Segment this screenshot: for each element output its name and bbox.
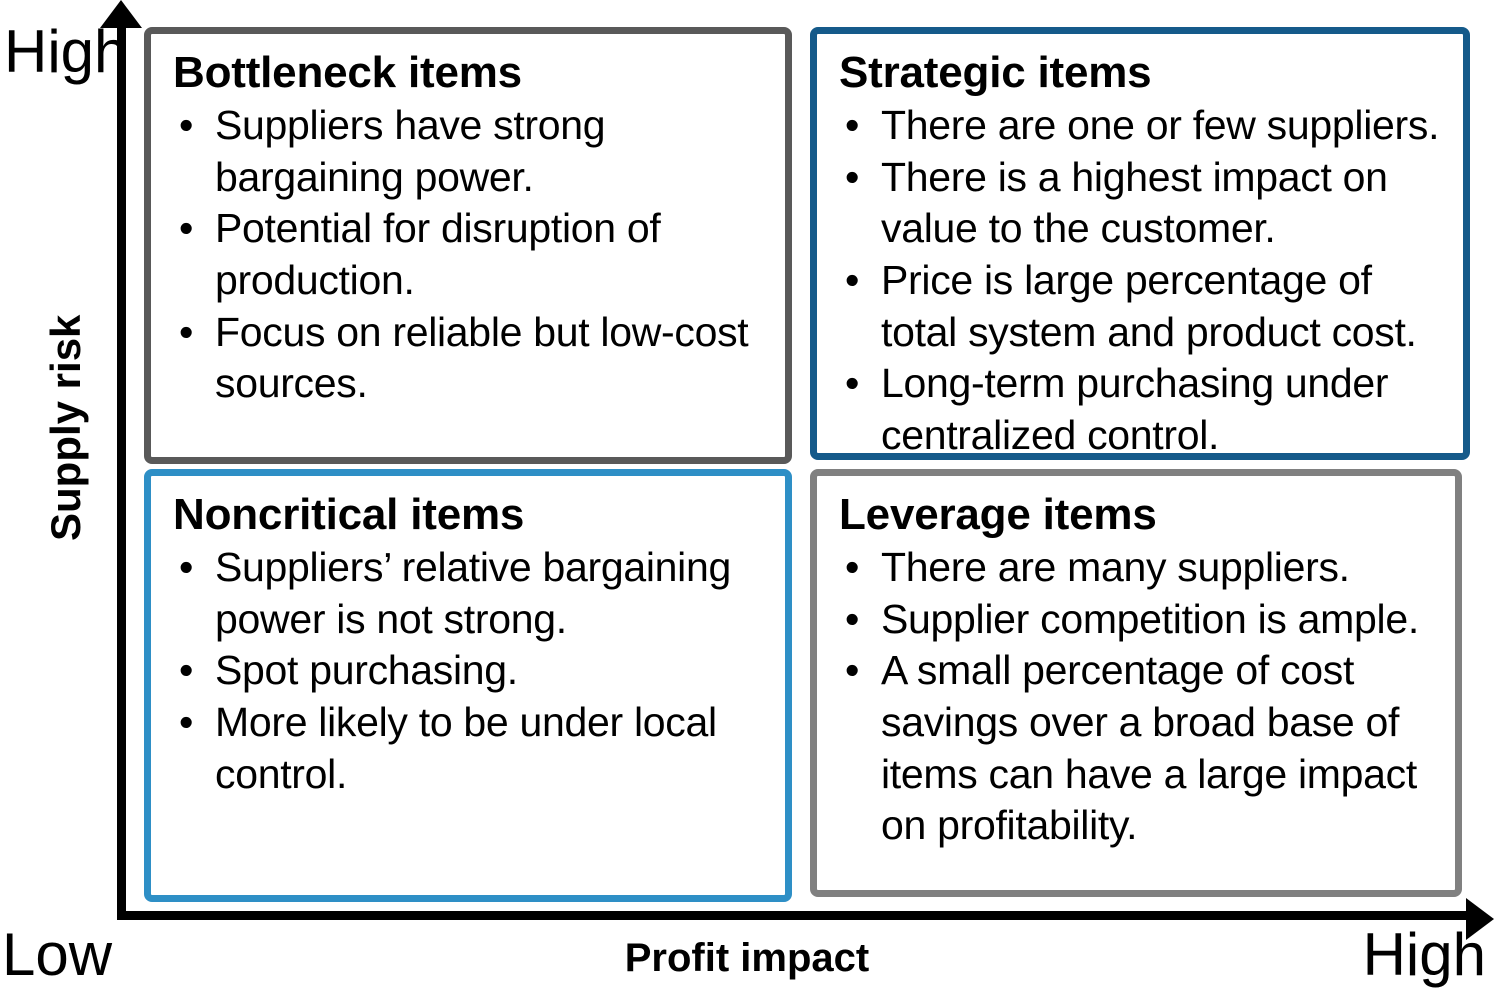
bullet-icon: •: [179, 203, 193, 255]
quadrant-bullet-text: There are one or few suppliers.: [881, 102, 1439, 148]
quadrant-title-strategic: Strategic items: [839, 48, 1447, 98]
quadrant-bullet-text: Long-term purchasing under centralized c…: [881, 360, 1388, 458]
quadrant-bullet-item: •A small percentage of cost savings over…: [837, 645, 1439, 852]
quadrant-bullet-item: •Long-term purchasing under centralized …: [837, 358, 1447, 461]
quadrant-bullets-noncritical: •Suppliers’ relative bargaining power is…: [171, 542, 769, 800]
quadrant-strategic-items: Strategic items •There are one or few su…: [810, 27, 1470, 460]
bullet-icon: •: [845, 255, 859, 307]
quadrant-bullet-text: Suppliers have strong bargaining power.: [215, 102, 605, 200]
y-axis-title: Supply risk: [45, 341, 87, 541]
quadrant-bullets-strategic: •There are one or few suppliers.•There i…: [837, 100, 1447, 462]
bullet-icon: •: [845, 542, 859, 594]
quadrant-bullet-item: •Spot purchasing.: [171, 645, 769, 697]
quadrant-bullet-text: Potential for disruption of production.: [215, 205, 660, 303]
quadrant-bottleneck-items: Bottleneck items •Suppliers have strong …: [144, 27, 792, 464]
quadrant-bullet-item: •Price is large percentage of total syst…: [837, 255, 1447, 358]
quadrant-bullet-text: Price is large percentage of total syste…: [881, 257, 1417, 355]
y-axis-line: [117, 22, 126, 920]
quadrant-bullet-item: •Suppliers have strong bargaining power.: [171, 100, 769, 203]
bullet-icon: •: [179, 645, 193, 697]
bullet-icon: •: [179, 542, 193, 594]
bullet-icon: •: [845, 358, 859, 410]
quadrant-bullet-text: A small percentage of cost savings over …: [881, 647, 1417, 848]
quadrant-title-leverage: Leverage items: [839, 490, 1439, 540]
quadrant-noncritical-items: Noncritical items •Suppliers’ relative b…: [144, 469, 792, 902]
kraljic-matrix-diagram: High Supply risk Low High Profit impact …: [0, 0, 1494, 1006]
quadrant-bullet-item: •There are many suppliers.: [837, 542, 1439, 594]
quadrant-leverage-items: Leverage items •There are many suppliers…: [810, 469, 1462, 897]
quadrant-bullet-text: Spot purchasing.: [215, 647, 518, 693]
bullet-icon: •: [179, 697, 193, 749]
x-axis-line: [117, 911, 1475, 920]
quadrant-bullet-item: •There are one or few suppliers.: [837, 100, 1447, 152]
bullet-icon: •: [845, 100, 859, 152]
quadrant-bullets-leverage: •There are many suppliers.•Supplier comp…: [837, 542, 1439, 852]
quadrant-bullet-item: •Focus on reliable but low-cost sources.: [171, 307, 769, 410]
y-axis-high-label: High: [4, 22, 127, 82]
quadrant-bullet-text: Suppliers’ relative bargaining power is …: [215, 544, 731, 642]
quadrant-bullet-text: More likely to be under local control.: [215, 699, 717, 797]
bullet-icon: •: [845, 645, 859, 697]
quadrant-bullet-text: There is a highest impact on value to th…: [881, 154, 1388, 252]
bullet-icon: •: [179, 307, 193, 359]
quadrant-title-bottleneck: Bottleneck items: [173, 48, 769, 98]
bullet-icon: •: [179, 100, 193, 152]
bullet-icon: •: [845, 152, 859, 204]
quadrant-bullet-item: •There is a highest impact on value to t…: [837, 152, 1447, 255]
quadrant-bullet-item: •Potential for disruption of production.: [171, 203, 769, 306]
quadrant-title-noncritical: Noncritical items: [173, 490, 769, 540]
x-axis-title: Profit impact: [0, 938, 1494, 978]
quadrant-bullet-item: •More likely to be under local control.: [171, 697, 769, 800]
bullet-icon: •: [845, 594, 859, 646]
quadrant-bullet-text: Focus on reliable but low-cost sources.: [215, 309, 748, 407]
quadrant-bullet-item: •Supplier competition is ample.: [837, 594, 1439, 646]
quadrant-bullets-bottleneck: •Suppliers have strong bargaining power.…: [171, 100, 769, 410]
quadrant-bullet-text: Supplier competition is ample.: [881, 596, 1419, 642]
quadrant-bullet-text: There are many suppliers.: [881, 544, 1350, 590]
quadrant-bullet-item: •Suppliers’ relative bargaining power is…: [171, 542, 769, 645]
